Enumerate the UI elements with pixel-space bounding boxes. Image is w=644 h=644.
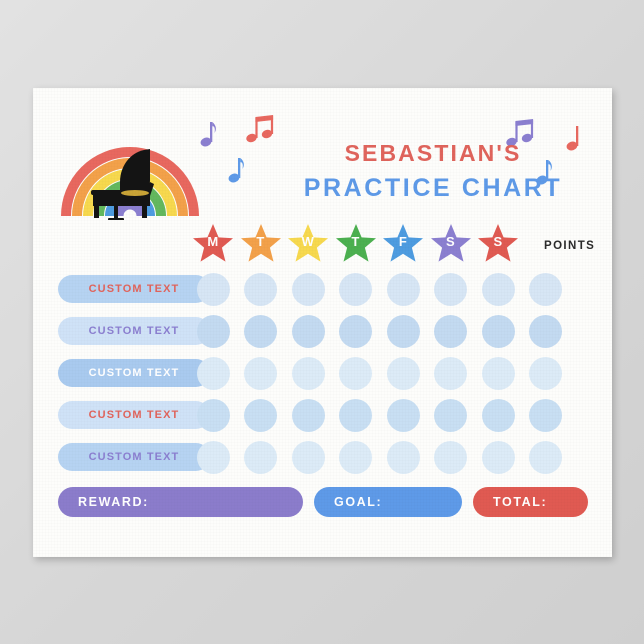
sticker-slot[interactable] bbox=[387, 441, 420, 474]
day-star-friday[interactable]: F bbox=[382, 223, 424, 263]
day-star-letter: T bbox=[335, 234, 377, 249]
sticker-slot[interactable] bbox=[244, 273, 277, 306]
sticker-slot[interactable] bbox=[292, 315, 325, 348]
sticker-slot[interactable] bbox=[529, 441, 562, 474]
sticker-slot[interactable] bbox=[339, 315, 372, 348]
sticker-slot[interactable] bbox=[387, 273, 420, 306]
sticker-slot[interactable] bbox=[292, 357, 325, 390]
goal-bar[interactable]: GOAL: bbox=[314, 487, 462, 517]
sticker-slot[interactable] bbox=[529, 357, 562, 390]
sticker-slot[interactable] bbox=[244, 441, 277, 474]
sticker-slot[interactable] bbox=[339, 273, 372, 306]
sticker-slot[interactable] bbox=[339, 357, 372, 390]
sticker-slot[interactable] bbox=[197, 357, 230, 390]
sticker-slot[interactable] bbox=[197, 399, 230, 432]
sticker-slot[interactable] bbox=[244, 357, 277, 390]
music-note-beamed-red bbox=[246, 114, 276, 144]
sticker-slot[interactable] bbox=[197, 315, 230, 348]
sticker-slot[interactable] bbox=[292, 441, 325, 474]
sticker-slot[interactable] bbox=[197, 273, 230, 306]
day-star-thursday[interactable]: T bbox=[335, 223, 377, 263]
sticker-slot[interactable] bbox=[244, 315, 277, 348]
sticker-slot[interactable] bbox=[197, 441, 230, 474]
day-star-letter: S bbox=[430, 234, 472, 249]
day-star-letter: T bbox=[240, 234, 282, 249]
sticker-slot[interactable] bbox=[482, 273, 515, 306]
poster-canvas: SEBASTIAN'S PRACTICE CHART MTWTFSS POINT… bbox=[0, 0, 644, 644]
sticker-slot[interactable] bbox=[482, 399, 515, 432]
music-note-eighth-blue bbox=[228, 156, 246, 184]
sticker-slot[interactable] bbox=[339, 441, 372, 474]
sticker-slot[interactable] bbox=[482, 357, 515, 390]
day-star-letter: M bbox=[192, 234, 234, 249]
chart-row: CUSTOM TEXT bbox=[33, 397, 612, 439]
sticker-slot[interactable] bbox=[482, 315, 515, 348]
sticker-slot[interactable] bbox=[244, 399, 277, 432]
day-star-monday[interactable]: M bbox=[192, 223, 234, 263]
day-star-saturday[interactable]: S bbox=[430, 223, 472, 263]
chart-row: CUSTOM TEXT bbox=[33, 355, 612, 397]
chart-row: CUSTOM TEXT bbox=[33, 439, 612, 481]
day-star-letter: F bbox=[382, 234, 424, 249]
sticker-slot[interactable] bbox=[434, 441, 467, 474]
day-star-wednesday[interactable]: W bbox=[287, 223, 329, 263]
total-bar[interactable]: TOTAL: bbox=[473, 487, 588, 517]
row-label-pill[interactable]: CUSTOM TEXT bbox=[58, 443, 210, 471]
sticker-slot[interactable] bbox=[387, 315, 420, 348]
sticker-slot[interactable] bbox=[387, 357, 420, 390]
day-star-tuesday[interactable]: T bbox=[240, 223, 282, 263]
music-note-eighth-purple bbox=[200, 120, 218, 148]
sticker-slot[interactable] bbox=[529, 273, 562, 306]
row-label-pill[interactable]: CUSTOM TEXT bbox=[58, 359, 210, 387]
sticker-slot[interactable] bbox=[434, 315, 467, 348]
row-label-pill[interactable]: CUSTOM TEXT bbox=[58, 275, 210, 303]
sticker-slot[interactable] bbox=[434, 273, 467, 306]
practice-chart-poster: SEBASTIAN'S PRACTICE CHART MTWTFSS POINT… bbox=[33, 88, 612, 557]
sticker-slot[interactable] bbox=[529, 399, 562, 432]
chart-row: CUSTOM TEXT bbox=[33, 313, 612, 355]
reward-bar[interactable]: REWARD: bbox=[58, 487, 303, 517]
sticker-slot[interactable] bbox=[434, 399, 467, 432]
row-label-pill[interactable]: CUSTOM TEXT bbox=[58, 317, 210, 345]
sticker-slot[interactable] bbox=[292, 273, 325, 306]
day-star-sunday[interactable]: S bbox=[477, 223, 519, 263]
sticker-slot[interactable] bbox=[292, 399, 325, 432]
row-label-pill[interactable]: CUSTOM TEXT bbox=[58, 401, 210, 429]
chart-row: CUSTOM TEXT bbox=[33, 271, 612, 313]
chart-title-name: SEBASTIAN'S bbox=[283, 140, 583, 167]
sticker-slot[interactable] bbox=[529, 315, 562, 348]
sticker-slot[interactable] bbox=[339, 399, 372, 432]
sticker-slot[interactable] bbox=[434, 357, 467, 390]
sticker-slot[interactable] bbox=[387, 399, 420, 432]
chart-title-subtitle: PRACTICE CHART bbox=[283, 174, 583, 203]
day-star-letter: S bbox=[477, 234, 519, 249]
rainbow-piano-illustration bbox=[58, 120, 203, 220]
sticker-slot[interactable] bbox=[482, 441, 515, 474]
points-column-label: POINTS bbox=[544, 240, 595, 252]
day-star-letter: W bbox=[287, 234, 329, 249]
day-star-row: MTWTFSS bbox=[33, 223, 612, 263]
